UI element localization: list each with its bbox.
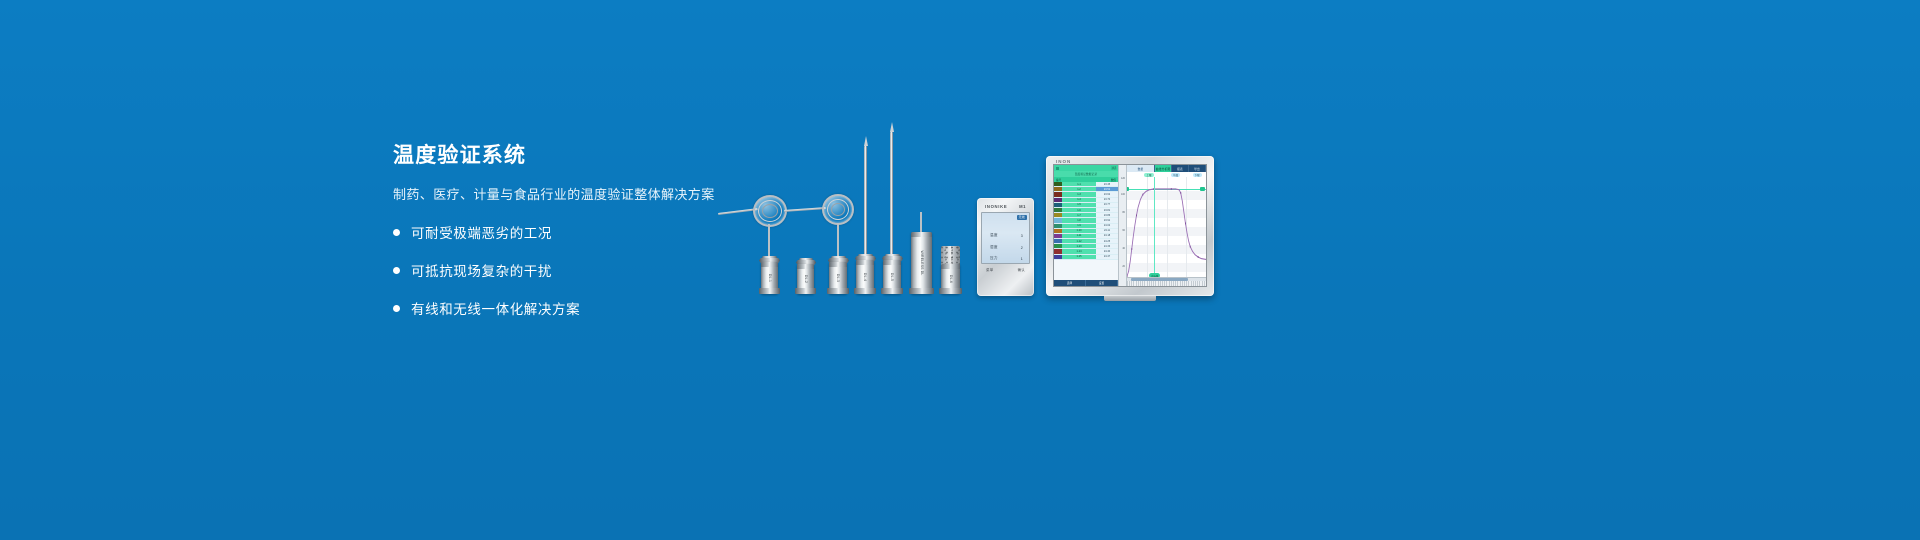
logger-cap — [797, 264, 814, 269]
probe-stem — [768, 224, 770, 260]
chart-cursor-line[interactable] — [1154, 177, 1155, 281]
logger-label: DL-3 — [836, 274, 840, 282]
tab-report[interactable]: 报表 — [1172, 165, 1189, 172]
logger-label: DL-2 — [804, 275, 808, 283]
row-value: 23.81 — [1096, 208, 1118, 212]
row-color-swatch — [1054, 198, 1062, 202]
row-id: 1-3 — [1062, 192, 1096, 196]
row-value: 23.62 — [1096, 192, 1118, 196]
row-value: 24.33 — [1096, 244, 1118, 248]
row-id: 1-6 — [1062, 208, 1096, 212]
tab-data[interactable]: 数据 — [1127, 165, 1155, 172]
logger-cap — [883, 260, 901, 265]
needle-probe — [864, 146, 867, 258]
chart-x-axis-ruler — [1127, 281, 1206, 286]
row-color-swatch — [1054, 218, 1062, 222]
row-color-swatch — [1054, 249, 1062, 253]
row-id: 1-5 — [1062, 203, 1096, 207]
data-logger-tall: WIRELESS DL — [911, 232, 932, 294]
data-logger-body: DL-2 — [797, 264, 814, 294]
row-color-swatch — [1054, 255, 1062, 259]
logger-label: DL-1 — [768, 274, 772, 282]
coiled-probe-icon — [753, 195, 787, 227]
handheld-reading-value: 1 — [1021, 257, 1023, 261]
data-logger-body: DL-3 — [829, 262, 847, 294]
row-value: 23.45 — [1096, 182, 1118, 186]
table-row[interactable]: 1-15 24.47 — [1054, 255, 1118, 260]
logger-base — [854, 288, 876, 294]
row-value: 24.18 — [1096, 234, 1118, 238]
handheld-confirm-button[interactable]: 确认 — [1018, 267, 1025, 272]
row-id: 1-10 — [1062, 229, 1096, 233]
needle-probe — [890, 132, 893, 258]
chart-horizontal-scrollbar[interactable] — [1127, 277, 1206, 281]
y-axis-tick: 80 — [1122, 211, 1125, 214]
table-col-header-id: 编号 — [1056, 178, 1061, 182]
hero-banner: 温度验证系统 制药、医疗、计量与食品行业的温度验证整体解决方案 可耐受极端恶劣的… — [0, 0, 1920, 540]
table-settings-button[interactable]: 设置 — [1086, 280, 1118, 286]
row-id: 1-8 — [1062, 218, 1096, 222]
monitor-brand-label: INON — [1056, 159, 1071, 164]
handheld-reading-row: 湿度 2 — [990, 245, 1023, 250]
row-value: 23.70 — [1096, 198, 1118, 202]
handheld-brand-row: INONIKE M1 — [981, 202, 1030, 212]
row-color-swatch — [1054, 182, 1062, 186]
y-axis-tick: 120 — [1121, 177, 1125, 180]
row-value: 24.47 — [1096, 255, 1118, 259]
row-color-swatch — [1054, 203, 1062, 207]
handheld-reading-label: 湿度 — [990, 245, 998, 250]
row-color-swatch — [1054, 224, 1062, 228]
logger-base — [881, 288, 903, 294]
logger-base — [939, 288, 962, 294]
row-color-swatch — [1054, 244, 1062, 248]
data-logger-body: DL-5 — [883, 260, 901, 294]
feature-bullet-label: 可耐受极端恶劣的工况 — [411, 222, 552, 242]
feature-bullet-label: 有线和无线一体化解决方案 — [411, 298, 580, 318]
y-axis-tick: 20 — [1122, 265, 1125, 268]
table-col-header-value: 数值 — [1111, 178, 1116, 182]
row-value: 24.40 — [1096, 249, 1118, 253]
logger-base — [795, 288, 816, 294]
bullet-dot-icon — [393, 267, 400, 274]
row-value: 24.25 — [1096, 239, 1118, 243]
logger-base — [827, 288, 849, 294]
row-value: 23.86 — [1096, 213, 1118, 217]
row-id: 1-7 — [1062, 213, 1096, 217]
row-id: 1-2 — [1062, 187, 1096, 191]
scrollbar-thumb[interactable] — [1131, 278, 1188, 281]
logger-cap — [941, 264, 960, 269]
bullet-dot-icon — [393, 305, 400, 312]
logger-base — [909, 288, 934, 294]
monitor-stand — [1104, 296, 1156, 301]
row-value: 24.11 — [1096, 229, 1118, 233]
panel-monitor[interactable]: INON 通道 温度验证数据记录 编号 数值 1-1 — [1046, 156, 1214, 296]
row-id: 1-12 — [1062, 239, 1096, 243]
handheld-reading-value: 2 — [1021, 246, 1023, 250]
row-id: 1-4 — [1062, 198, 1096, 202]
chart-panel[interactable]: 数据 曲线分析图 报表 导出 上限 均值 下限 — [1127, 165, 1206, 286]
handheld-reading-row: 温度 3 — [990, 233, 1023, 238]
y-axis-tick: 60 — [1122, 229, 1125, 232]
logger-antenna — [920, 212, 922, 234]
tab-curve[interactable]: 曲线分析图 — [1155, 165, 1172, 172]
channel-data-table[interactable]: 通道 温度验证数据记录 编号 数值 1-1 23.45 1-2 — [1054, 165, 1118, 286]
handheld-button-row: 菜单 确认 — [981, 264, 1030, 273]
data-logger-body: DL-1 — [761, 262, 778, 294]
handheld-model-label: M1 — [1019, 204, 1026, 209]
logger-cap — [829, 262, 847, 267]
tab-export[interactable]: 导出 — [1189, 165, 1206, 172]
table-header-title: 通道 — [1111, 166, 1116, 170]
row-id: 1-15 — [1062, 255, 1096, 259]
sensor-wire — [718, 208, 758, 215]
row-value: 24.02 — [1096, 224, 1118, 228]
row-value: 23.77 — [1096, 203, 1118, 207]
sintered-filter-cap — [941, 246, 960, 266]
row-color-swatch — [1054, 229, 1062, 233]
probe-stem — [837, 223, 839, 259]
feature-bullet-label: 可抵抗现场复杂的干扰 — [411, 260, 552, 280]
handheld-menu-button[interactable]: 菜单 — [986, 267, 993, 272]
row-color-swatch — [1054, 187, 1062, 191]
logger-label: DL-4 — [863, 273, 867, 281]
table-color-key-icon — [1056, 167, 1059, 170]
handheld-reader[interactable]: INONIKE M1 无线 温度 3 湿度 2 压力 1 菜单 — [977, 198, 1034, 296]
handheld-brand-label: INONIKE — [985, 204, 1007, 209]
logger-cap — [911, 232, 932, 237]
bullet-dot-icon — [393, 229, 400, 236]
handheld-status-badge: 无线 — [1017, 215, 1027, 220]
y-axis-tick: 100 — [1121, 193, 1125, 196]
y-axis-tick: 40 — [1122, 247, 1125, 250]
row-id: 1-9 — [1062, 224, 1096, 228]
coiled-probe-icon — [822, 194, 854, 225]
row-value: 23.51 — [1096, 187, 1118, 191]
chart-y-axis: 120 100 80 60 40 20 — [1118, 165, 1127, 286]
data-logger-body: DL-6 — [941, 264, 960, 294]
handheld-reading-label: 压力 — [990, 256, 998, 261]
logger-cap — [856, 260, 874, 265]
row-id: 1-14 — [1062, 249, 1096, 253]
data-logger-body: DL-4 — [856, 260, 874, 294]
monitor-screen[interactable]: 通道 温度验证数据记录 编号 数值 1-1 23.45 1-2 — [1053, 164, 1207, 287]
logger-base — [759, 288, 780, 294]
row-id: 1-11 — [1062, 234, 1096, 238]
product-photo-group: DL-1 DL-2 DL-3 DL-4 DL-5 WIRELESS DL — [700, 110, 1220, 310]
chart-series-line — [1127, 177, 1206, 281]
row-value: 23.91 — [1096, 218, 1118, 222]
row-color-swatch — [1054, 239, 1062, 243]
logger-label: WIRELESS DL — [920, 251, 924, 276]
table-select-button[interactable]: 选择 — [1054, 280, 1086, 286]
row-color-swatch — [1054, 192, 1062, 196]
handheld-screen[interactable]: 无线 温度 3 湿度 2 压力 1 — [981, 212, 1030, 264]
handheld-reading-row: 压力 1 — [990, 256, 1023, 261]
logger-label: DL-6 — [949, 275, 953, 283]
logger-cap — [761, 262, 778, 267]
handheld-reading-label: 温度 — [990, 233, 998, 238]
row-color-swatch — [1054, 234, 1062, 238]
row-id: 1-1 — [1062, 182, 1096, 186]
row-color-swatch — [1054, 213, 1062, 217]
table-footer-buttons: 选择 设置 — [1054, 280, 1118, 286]
logger-label: DL-5 — [890, 273, 894, 281]
row-color-swatch — [1054, 208, 1062, 212]
sensor-wire — [784, 207, 826, 212]
handheld-reading-value: 3 — [1021, 234, 1023, 238]
chart-tab-bar[interactable]: 数据 曲线分析图 报表 导出 — [1127, 165, 1206, 172]
row-id: 1-13 — [1062, 244, 1096, 248]
chart-plot-area[interactable]: 光标线 — [1127, 177, 1206, 281]
